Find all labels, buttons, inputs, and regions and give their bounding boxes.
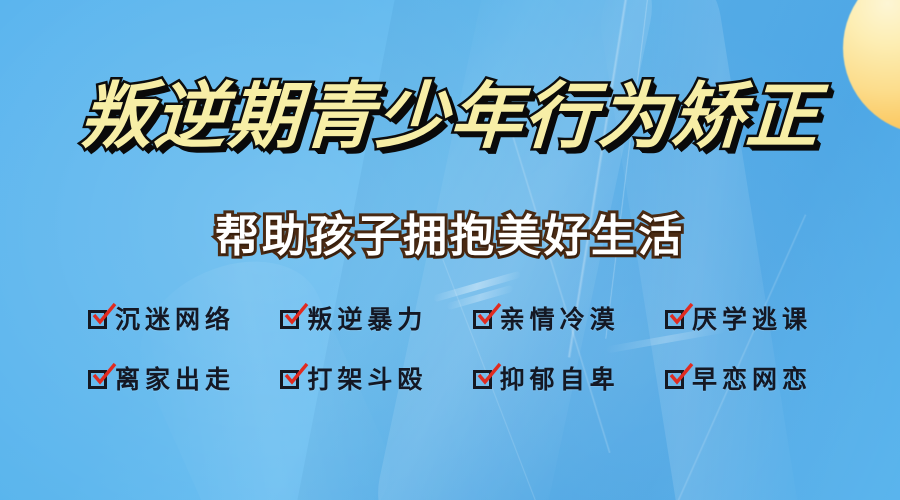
checklist-item[interactable]: 厌学逃课	[665, 300, 812, 336]
checklist-item-label: 抑郁自卑	[500, 360, 620, 396]
checklist-row: 沉迷网络 叛逆暴力 亲情冷漠	[88, 292, 812, 344]
checklist-item[interactable]: 亲情冷漠	[473, 300, 620, 336]
checkbox-checked-icon[interactable]	[280, 368, 302, 390]
checklist-item-label: 离家出走	[115, 360, 235, 396]
checkbox-checked-icon[interactable]	[665, 368, 687, 390]
issue-checklist: 沉迷网络 叛逆暴力 亲情冷漠	[88, 292, 812, 404]
promo-banner: 叛逆期青少年行为矫正 帮助孩子拥抱美好生活 沉迷网络	[0, 0, 900, 500]
checkbox-checked-icon[interactable]	[473, 308, 495, 330]
checklist-item-label: 沉迷网络	[115, 300, 235, 336]
checklist-item-label: 打架斗殴	[307, 360, 427, 396]
banner-subtitle: 帮助孩子拥抱美好生活	[215, 200, 685, 264]
subtitle-container: 帮助孩子拥抱美好生活	[0, 200, 900, 264]
checkbox-checked-icon[interactable]	[280, 308, 302, 330]
checkbox-checked-icon[interactable]	[665, 308, 687, 330]
checklist-item[interactable]: 早恋网恋	[665, 360, 812, 396]
checkbox-checked-icon[interactable]	[88, 308, 110, 330]
checklist-item-label: 早恋网恋	[692, 360, 812, 396]
checklist-item[interactable]: 打架斗殴	[280, 360, 427, 396]
checklist-row: 离家出走 打架斗殴 抑郁自卑	[88, 352, 812, 404]
banner-title: 叛逆期青少年行为矫正	[78, 78, 822, 156]
checklist-item[interactable]: 离家出走	[88, 360, 235, 396]
checklist-item[interactable]: 叛逆暴力	[280, 300, 427, 336]
checklist-item-label: 叛逆暴力	[307, 300, 427, 336]
checklist-item[interactable]: 沉迷网络	[88, 300, 235, 336]
checkbox-checked-icon[interactable]	[473, 368, 495, 390]
title-container: 叛逆期青少年行为矫正	[0, 78, 900, 156]
checklist-item[interactable]: 抑郁自卑	[473, 360, 620, 396]
checklist-item-label: 亲情冷漠	[500, 300, 620, 336]
checklist-item-label: 厌学逃课	[692, 300, 812, 336]
checkbox-checked-icon[interactable]	[88, 368, 110, 390]
